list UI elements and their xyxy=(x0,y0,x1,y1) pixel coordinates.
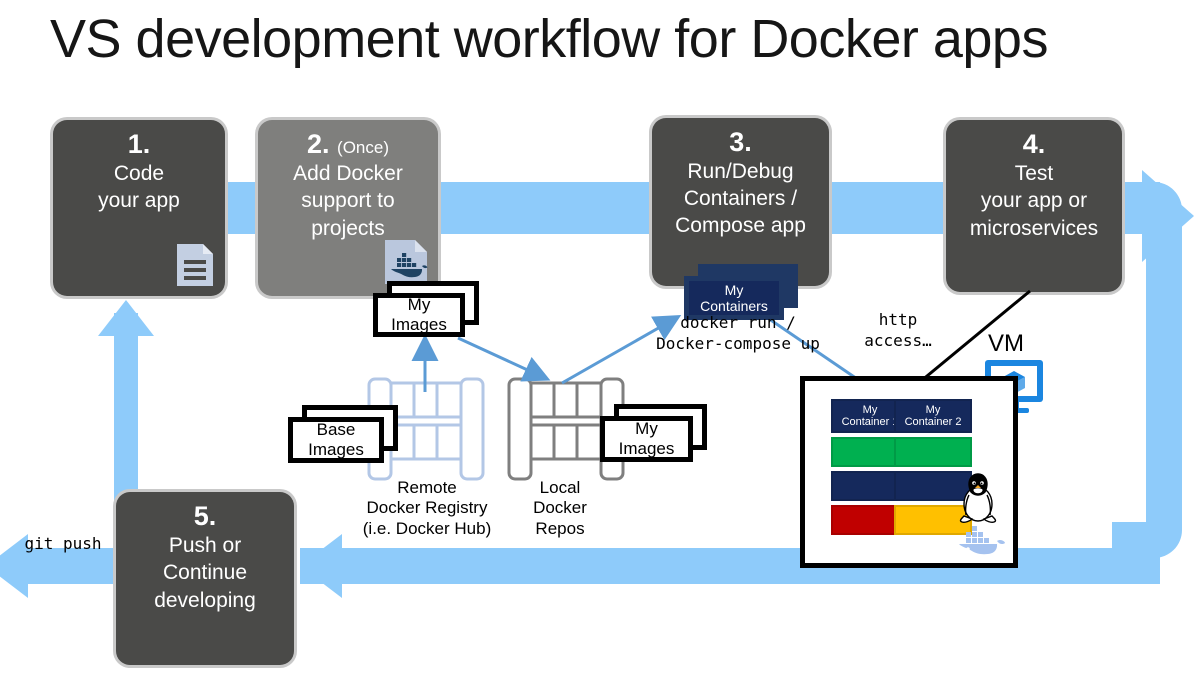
vm-container-2-name-line-2: Container 2 xyxy=(905,416,962,428)
http-access-label: http access… xyxy=(850,310,946,352)
step-4-number: 4. xyxy=(954,130,1114,160)
base-images-line-2: Images xyxy=(308,440,364,460)
step-3-number: 3. xyxy=(660,128,821,158)
step-5-line-1: Push or xyxy=(124,532,286,560)
vm-label: VM xyxy=(988,330,1024,358)
step-box-3[interactable]: 3. Run/Debug Containers / Compose app xyxy=(652,118,829,286)
flow-arrow-right xyxy=(1142,170,1194,262)
step-4-line-1: Test xyxy=(954,160,1114,188)
base-images-line-1: Base xyxy=(308,420,364,440)
vm-container-2-name-line-1: My xyxy=(905,404,962,416)
step-1-number: 1. xyxy=(61,130,217,160)
git-push-label: git push xyxy=(8,534,118,555)
docker-run-line-1: docker run / xyxy=(648,313,828,334)
docker-run-line-2: Docker-compose up xyxy=(648,334,828,355)
local-repos-caption: Local Docker Repos xyxy=(512,478,608,539)
step-box-4[interactable]: 4. Test your app or microservices xyxy=(946,120,1122,292)
dockerfile-icon xyxy=(382,238,430,286)
local-repos-caption-line-3: Repos xyxy=(512,519,608,539)
step-box-1[interactable]: 1. Code your app xyxy=(53,120,225,296)
docker-whale-icon xyxy=(955,522,1009,556)
step-2-number-text: 2. xyxy=(307,129,330,159)
remote-registry-caption-line-1: Remote xyxy=(352,478,502,498)
vm-container-2-segment-2 xyxy=(894,437,972,467)
step-2-line-1: Add Docker xyxy=(266,160,430,188)
flow-arrow-into-step5 xyxy=(300,534,342,598)
step-2-note: (Once) xyxy=(337,138,389,157)
remote-registry-caption-line-2: Docker Registry xyxy=(352,498,502,518)
step-5-line-3: developing xyxy=(124,587,286,615)
step-3-line-3: Compose app xyxy=(660,212,821,239)
step-2-line-2: support to xyxy=(266,187,430,215)
my-images-box-top-main: My Images xyxy=(373,293,465,337)
my-images-top-line-2: Images xyxy=(391,315,447,335)
vm-container-2-header: My Container 2 xyxy=(894,399,972,433)
arrow-myimages-to-localrepos xyxy=(458,338,545,378)
document-icon xyxy=(175,242,215,288)
step-box-2[interactable]: 2. (Once) Add Docker support to projects xyxy=(258,120,438,296)
flow-band-step5-to-step1 xyxy=(114,313,138,503)
step-4-line-2: your app or xyxy=(954,187,1114,215)
http-access-line-2: access… xyxy=(850,331,946,352)
remote-registry-caption-line-3: (i.e. Docker Hub) xyxy=(352,519,502,539)
remote-registry-caption: Remote Docker Registry (i.e. Docker Hub) xyxy=(352,478,502,539)
diagram-canvas: VS development workflow for Docker apps … xyxy=(0,0,1194,679)
page-title: VS development workflow for Docker apps xyxy=(50,8,1150,70)
local-repos-caption-line-2: Docker xyxy=(512,498,608,518)
base-images-box: Base Images xyxy=(288,405,384,451)
step-5-line-2: Continue xyxy=(124,559,286,587)
linux-penguin-icon xyxy=(955,470,1001,524)
http-access-line-1: http xyxy=(850,310,946,331)
vm-container-1-name-line-1: My xyxy=(842,404,899,416)
step-1-line-1: Code xyxy=(61,160,217,188)
step-2-number: 2. (Once) xyxy=(266,130,430,160)
vm-container-1-name-line-2: Container 1 xyxy=(842,416,899,428)
flow-band-bottom xyxy=(300,548,1160,584)
step-1-line-2: your app xyxy=(61,187,217,215)
docker-run-label: docker run / Docker-compose up xyxy=(648,313,828,355)
my-images-bottom-line-1: My xyxy=(619,419,675,439)
my-containers-line-1: My xyxy=(700,282,768,298)
my-containers-box: My Containers xyxy=(684,264,784,308)
my-containers-line-2: Containers xyxy=(700,298,768,314)
my-images-top-line-1: My xyxy=(391,295,447,315)
local-repos-caption-line-1: Local xyxy=(512,478,608,498)
flow-arrow-into-step1 xyxy=(98,300,154,336)
step-4-line-3: microservices xyxy=(954,215,1114,243)
my-images-box-bottom-main: My Images xyxy=(600,416,693,462)
step-3-line-2: Containers / xyxy=(660,185,821,212)
step-box-5[interactable]: 5. Push or Continue developing xyxy=(116,492,294,665)
step-3-line-1: Run/Debug xyxy=(660,158,821,185)
my-images-box-bottom: My Images xyxy=(600,404,693,450)
my-images-bottom-line-2: Images xyxy=(619,439,675,459)
step-5-number: 5. xyxy=(124,502,286,532)
base-images-box-main: Base Images xyxy=(288,417,384,463)
my-images-box-top: My Images xyxy=(373,281,465,325)
